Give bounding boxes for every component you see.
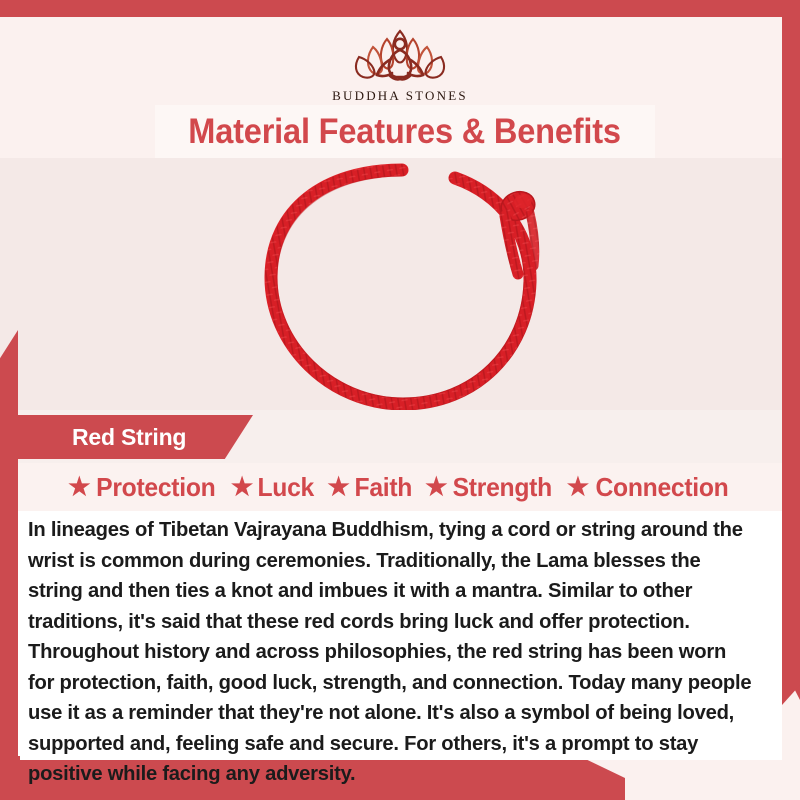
benefit-label: Strength — [453, 472, 552, 503]
brand-logo: BUDDHA STONES — [300, 19, 500, 104]
brand-header: BUDDHA STONES — [0, 17, 800, 105]
description-text: In lineages of Tibetan Vajrayana Buddhis… — [28, 515, 757, 790]
benefit-label: Protection — [96, 472, 215, 503]
benefit-label: Connection — [595, 472, 728, 503]
brand-wordmark: BUDDHA STONES — [300, 88, 500, 104]
star-icon: ★ — [327, 475, 349, 500]
lotus-meditation-icon — [300, 19, 500, 87]
product-name-ribbon: Red String — [18, 415, 253, 459]
page-title: Material Features & Benefits — [189, 112, 622, 152]
benefit-label: Luck — [257, 472, 314, 503]
benefit-item-luck: ★ Luck — [221, 472, 316, 503]
benefit-item-strength: ★ Strength — [415, 472, 555, 503]
star-icon: ★ — [567, 475, 589, 500]
frame-right-tail — [782, 655, 800, 705]
star-icon: ★ — [68, 475, 90, 500]
material-features-poster: BUDDHA STONES Material Features & Benefi… — [0, 0, 800, 800]
star-icon: ★ — [231, 475, 253, 500]
benefits-row: ★ Protection ★ Luck ★ Faith ★ Strength ★… — [0, 463, 800, 511]
description-block: In lineages of Tibetan Vajrayana Buddhis… — [18, 511, 782, 760]
product-name-label: Red String — [18, 424, 186, 451]
product-image — [0, 158, 800, 418]
title-band: Material Features & Benefits — [155, 105, 655, 158]
frame-top-bar — [0, 0, 800, 17]
frame-right-bar — [782, 0, 800, 700]
star-icon: ★ — [425, 475, 447, 500]
benefit-item-faith: ★ Faith — [317, 472, 413, 503]
benefit-item-connection: ★ Connection — [557, 472, 732, 503]
frame-left-bar — [0, 330, 18, 800]
benefit-label: Faith — [354, 472, 412, 503]
benefit-item-protection: ★ Protection — [68, 472, 219, 503]
frame-bottom-left-corner — [0, 756, 20, 800]
